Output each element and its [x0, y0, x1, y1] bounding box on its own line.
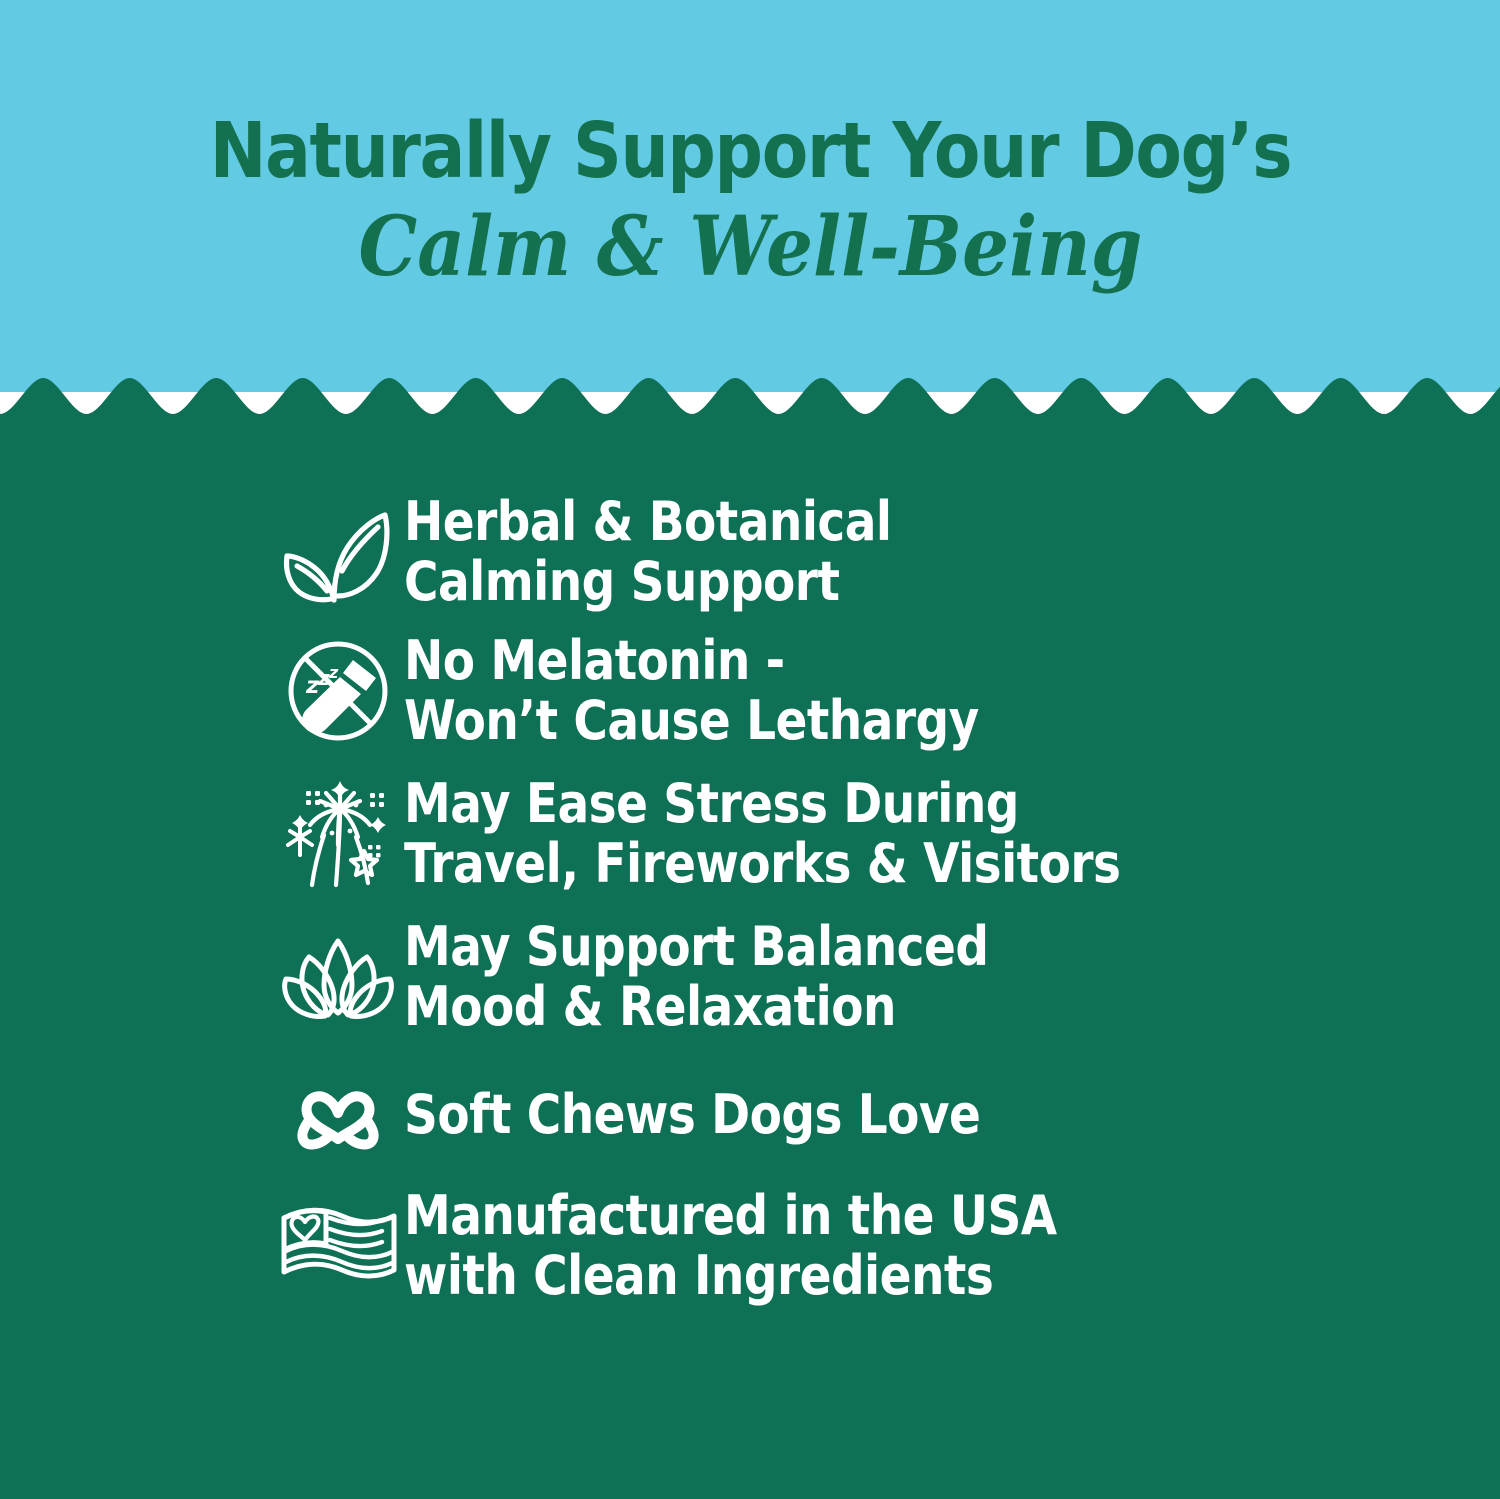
feature-label: Manufactured in the USA with Clean Ingre…	[404, 1186, 1057, 1307]
feature-label: No Melatonin - Won’t Cause Lethargy	[404, 631, 979, 752]
feature-list: Herbal & Botanical Calming Support z z	[272, 492, 1272, 1307]
page-title-line-2: Calm & Well-Being	[358, 206, 1142, 288]
feature-label: Soft Chews Dogs Love	[404, 1085, 980, 1145]
svg-text:z: z	[328, 663, 339, 682]
feature-row: z z z No Melatonin - Won’t Cause Letharg…	[272, 631, 1272, 752]
usa-flag-heart-icon	[272, 1187, 404, 1305]
feature-row: Soft Chews Dogs Love	[272, 1056, 1272, 1174]
feature-row: Manufactured in the USA with Clean Ingre…	[272, 1186, 1272, 1307]
feature-row: May Ease Stress During Travel, Fireworks…	[272, 774, 1272, 895]
leaves-icon	[272, 493, 404, 611]
feature-label: May Ease Stress During Travel, Fireworks…	[404, 774, 1120, 895]
fireworks-icon	[272, 775, 404, 893]
no-melatonin-icon: z z z	[272, 632, 404, 750]
feature-row: May Support Balanced Mood & Relaxation	[272, 917, 1272, 1038]
lotus-flower-icon	[272, 918, 404, 1036]
product-feature-infographic: Naturally Support Your Dog’s Calm & Well…	[0, 0, 1500, 1499]
heart-chew-icon	[272, 1056, 404, 1174]
feature-label: May Support Balanced Mood & Relaxation	[404, 917, 988, 1038]
wavy-divider	[0, 374, 1500, 422]
feature-label: Herbal & Botanical Calming Support	[404, 492, 892, 613]
header-title-block: Naturally Support Your Dog’s Calm & Well…	[0, 0, 1500, 392]
page-title-line-1: Naturally Support Your Dog’s	[209, 113, 1290, 190]
feature-row: Herbal & Botanical Calming Support	[272, 492, 1272, 613]
